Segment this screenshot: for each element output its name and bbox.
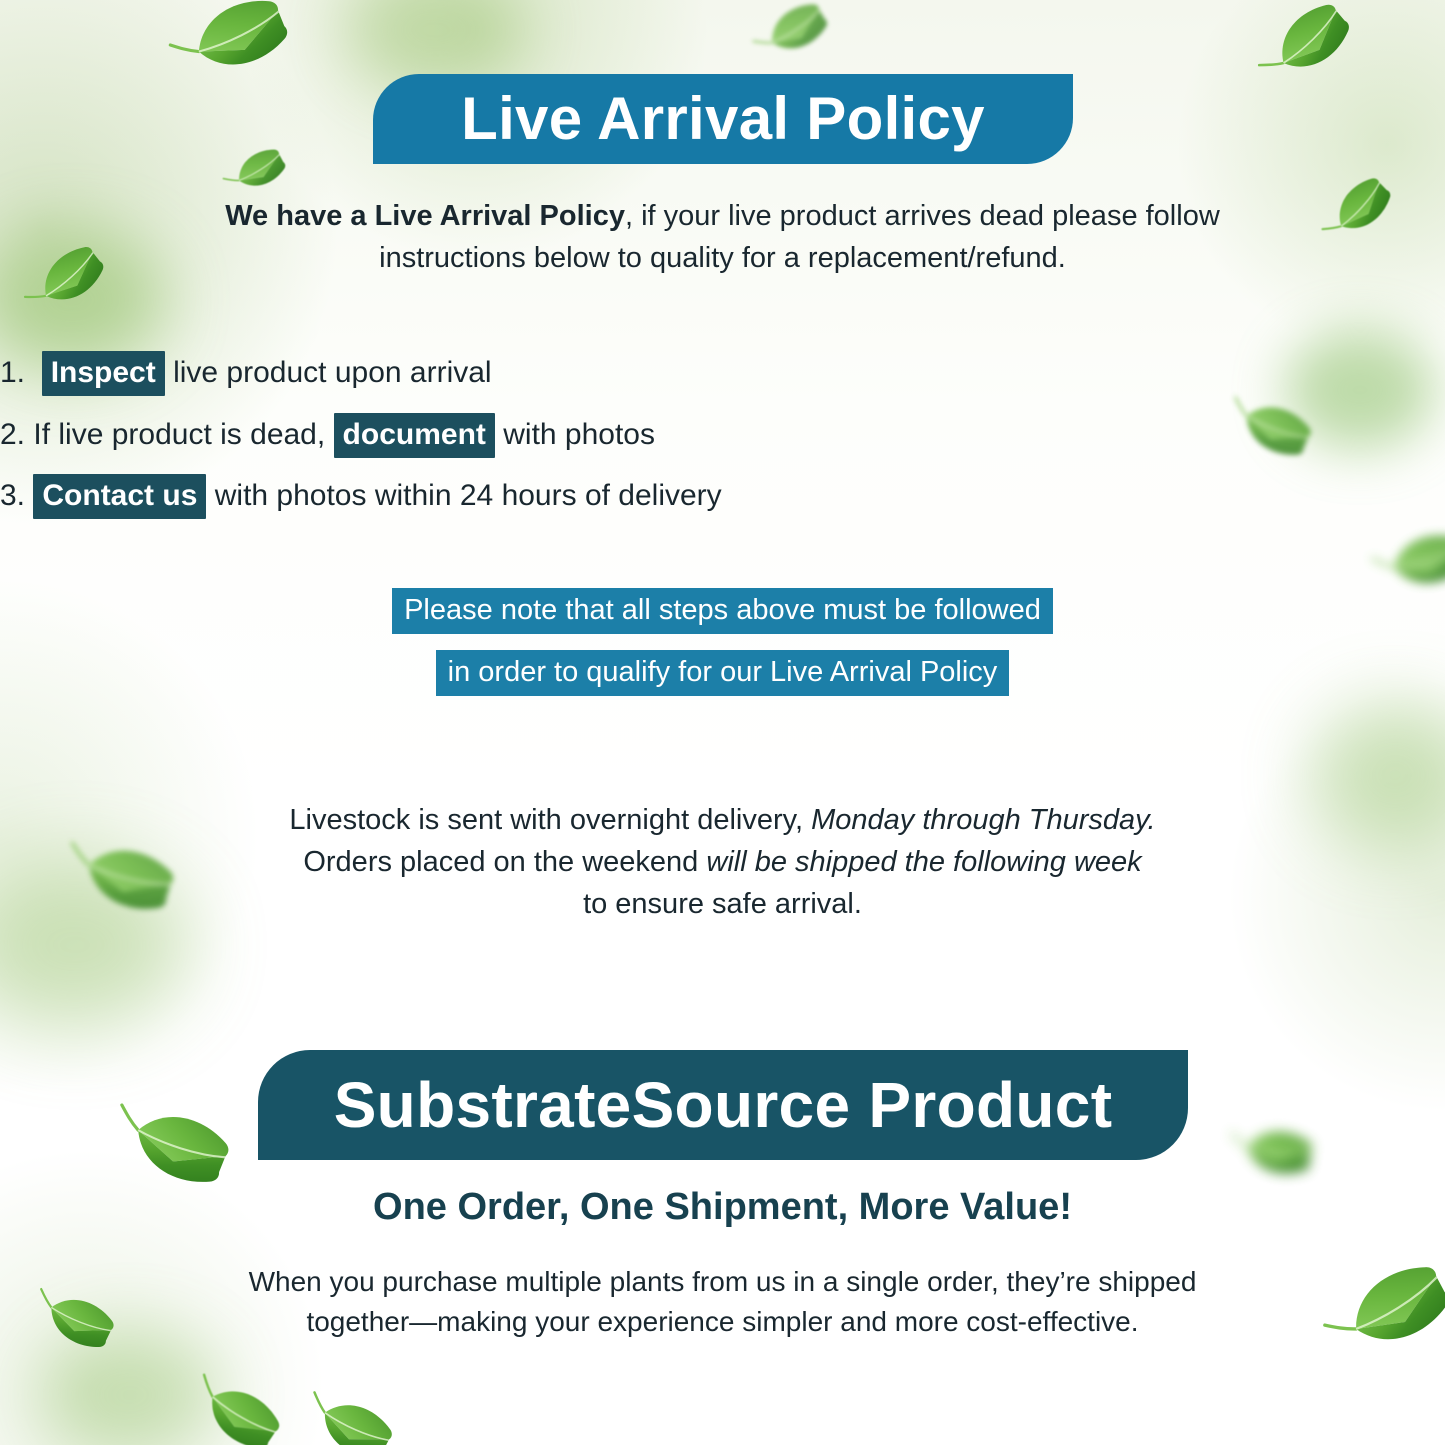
- step-2-after: with photos: [503, 418, 655, 451]
- step-2-highlight: document: [334, 413, 495, 458]
- intro-line-1: We have a Live Arrival Policy, if your l…: [0, 196, 1445, 238]
- poster-canvas: Live Arrival Policy We have a Live Arriv…: [0, 0, 1445, 1445]
- livestock-line-1-italic: Monday through Thursday.: [811, 804, 1155, 836]
- policy-note-line-2: in order to qualify for our Live Arrival…: [0, 650, 1445, 696]
- intro-line-2: instructions below to quality for a repl…: [0, 238, 1445, 280]
- product-paragraph: When you purchase multiple plants from u…: [0, 1262, 1445, 1343]
- policy-note-line-2-text: in order to qualify for our Live Arrival…: [436, 650, 1010, 696]
- step-1-after: live product upon arrival: [173, 356, 492, 389]
- substratesource-product-banner: SubstrateSource Product: [258, 1050, 1188, 1160]
- livestock-line-2-text: Orders placed on the weekend: [303, 846, 698, 878]
- step-item-3: 3. Contact us with photos within 24 hour…: [0, 481, 1445, 511]
- live-arrival-policy-banner: Live Arrival Policy: [373, 74, 1073, 164]
- content-layer: Live Arrival Policy We have a Live Arriv…: [0, 0, 1445, 1445]
- step-3-number: 3.: [0, 479, 25, 512]
- product-paragraph-line-2: together—making your experience simpler …: [0, 1302, 1445, 1342]
- intro-bold-lead: We have a Live Arrival Policy: [225, 200, 625, 232]
- step-1-number: 1.: [0, 356, 25, 389]
- product-subheading: One Order, One Shipment, More Value!: [0, 1188, 1445, 1226]
- step-1-text: 1. Inspect live product upon arrival: [0, 351, 492, 396]
- step-2-before: If live product is dead,: [33, 418, 325, 451]
- step-1-highlight: Inspect: [42, 351, 165, 396]
- livestock-shipping-paragraph: Livestock is sent with overnight deliver…: [0, 800, 1445, 925]
- product-paragraph-line-1: When you purchase multiple plants from u…: [0, 1262, 1445, 1302]
- intro-paragraph: We have a Live Arrival Policy, if your l…: [0, 196, 1445, 280]
- step-item-1: 1. Inspect live product upon arrival: [0, 358, 1445, 388]
- livestock-line-1-text: Livestock is sent with overnight deliver…: [289, 804, 803, 836]
- step-item-2: 2. If live product is dead, document wit…: [0, 420, 1445, 450]
- policy-note-line-1: Please note that all steps above must be…: [0, 588, 1445, 634]
- livestock-line-3: to ensure safe arrival.: [0, 884, 1445, 926]
- step-3-after: with photos within 24 hours of delivery: [215, 479, 722, 512]
- step-2-number: 2.: [0, 418, 25, 451]
- policy-note-line-1-text: Please note that all steps above must be…: [392, 588, 1053, 634]
- step-3-highlight: Contact us: [33, 474, 206, 519]
- livestock-line-1: Livestock is sent with overnight deliver…: [0, 800, 1445, 842]
- intro-line-1-rest: , if your live product arrives dead plea…: [625, 200, 1220, 232]
- livestock-line-2: Orders placed on the weekend will be shi…: [0, 842, 1445, 884]
- livestock-line-2-italic: will be shipped the following week: [706, 846, 1141, 878]
- step-2-text: 2. If live product is dead, document wit…: [0, 413, 655, 458]
- step-3-text: 3. Contact us with photos within 24 hour…: [0, 474, 722, 519]
